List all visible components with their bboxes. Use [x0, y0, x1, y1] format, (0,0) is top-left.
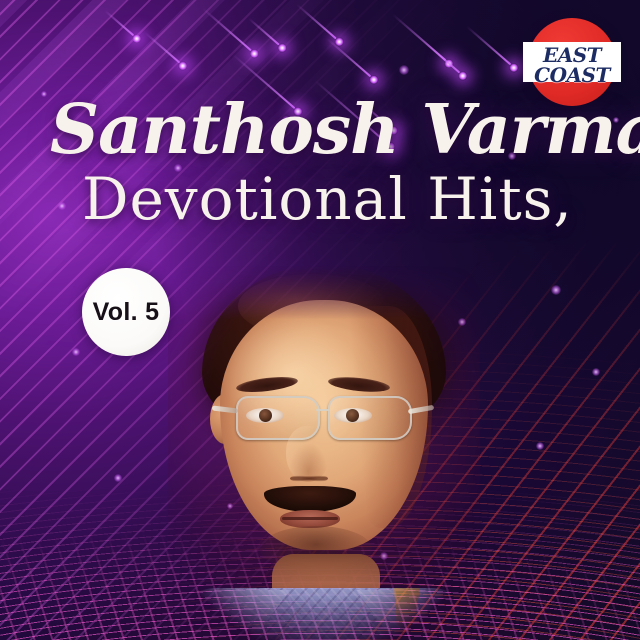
- background-spark: [72, 348, 80, 356]
- album-title-primary: Santhosh Varma: [50, 96, 640, 164]
- portrait-color-grade: [168, 258, 480, 640]
- background-spark: [592, 368, 600, 376]
- logo-text-east: EAST: [522, 45, 622, 65]
- artist-portrait: [168, 258, 480, 640]
- background-spark: [399, 65, 409, 75]
- comet-streak: [105, 9, 140, 41]
- comet-streak: [145, 31, 186, 69]
- comet-streak: [203, 7, 258, 57]
- volume-badge: Vol. 5: [82, 268, 170, 356]
- volume-badge-label: Vol. 5: [93, 298, 160, 327]
- comet-streak: [297, 3, 343, 45]
- background-spark: [41, 91, 47, 97]
- album-title-secondary: Devotional Hits,: [82, 170, 573, 228]
- album-cover: Santhosh Varma Devotional Hits, Vol. 5 E…: [0, 0, 640, 640]
- background-spark: [551, 285, 561, 295]
- logo-text-coast: COAST: [522, 65, 622, 85]
- comet-streak: [327, 37, 377, 83]
- background-spark: [58, 202, 66, 210]
- background-spark: [536, 442, 544, 450]
- comet-streak: [425, 41, 466, 79]
- comet-streak: [467, 25, 517, 71]
- comet-streak: [249, 17, 286, 51]
- background-spark: [114, 474, 122, 482]
- east-coast-logo: EAST COAST: [528, 18, 616, 106]
- comet-streak: [393, 13, 452, 66]
